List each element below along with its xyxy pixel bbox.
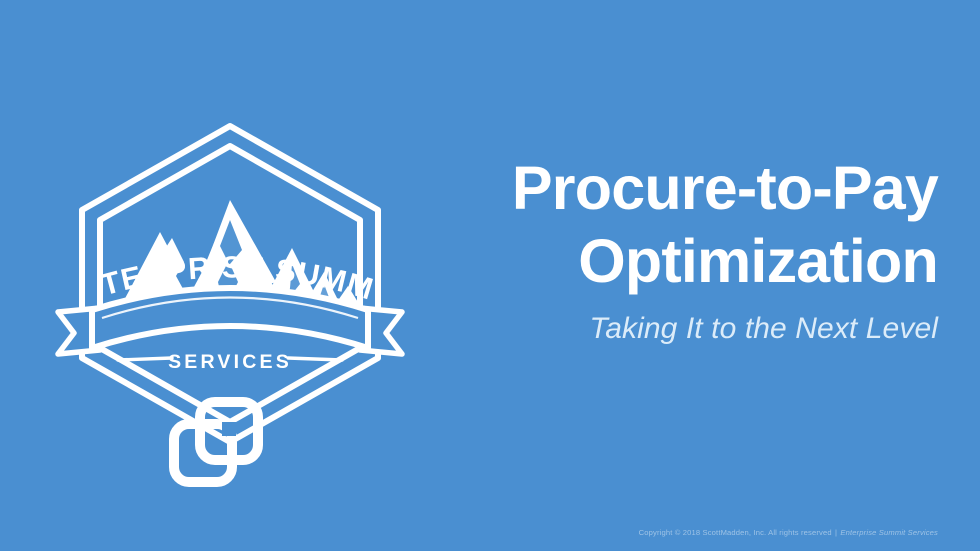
- title-block: Procure-to-Pay Optimization Taking It to…: [378, 152, 938, 348]
- page-title-line-1: Procure-to-Pay: [378, 152, 938, 225]
- services-label: SERVICES: [168, 351, 292, 373]
- footer-separator: |: [834, 528, 838, 537]
- services-sublabel-group: SERVICES: [118, 351, 342, 373]
- footer-copyright: Copyright © 2018 ScottMadden, Inc. All r…: [639, 527, 938, 538]
- ribbon-label: ENTERPRISE SUMMIT: [40, 85, 377, 307]
- presentation-title-slide: ENTERPRISE SUMMIT SERVICES Procure-to-Pa…: [0, 0, 980, 551]
- footer-brand-name: Enterprise Summit Services: [840, 528, 938, 537]
- enterprise-summit-services-logo: ENTERPRISE SUMMIT SERVICES: [52, 112, 408, 456]
- copyright-text: Copyright © 2018 ScottMadden, Inc. All r…: [639, 528, 832, 537]
- page-subtitle: Taking It to the Next Level: [378, 310, 938, 348]
- badge-icon: ENTERPRISE SUMMIT SERVICES: [52, 112, 408, 456]
- ribbon-banner-icon: ENTERPRISE SUMMIT: [40, 85, 402, 354]
- page-title-line-2: Optimization: [378, 225, 938, 298]
